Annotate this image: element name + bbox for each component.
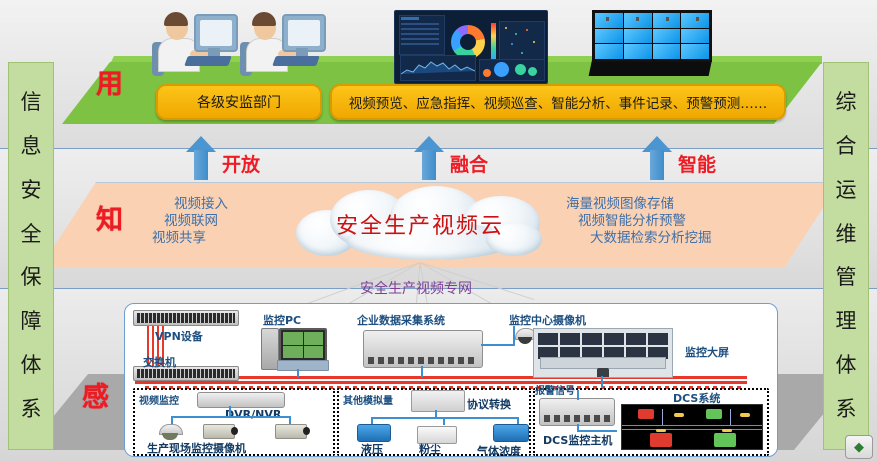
dashboard-area-chart: [400, 55, 476, 81]
up-arrow-icon: [186, 136, 216, 180]
banner-left-char-1: 息: [21, 136, 42, 157]
bubble: [528, 67, 537, 76]
scatter-dot: [526, 29, 528, 31]
group-title-alarm-signals: 报警信号: [535, 382, 575, 397]
banner-left-char-2: 安: [21, 180, 42, 201]
bubble: [483, 69, 491, 77]
banner-right-char-6: 体: [836, 355, 857, 376]
dcs-tag: [674, 413, 684, 417]
operator-1: [152, 6, 236, 82]
video-wall-cell: [595, 29, 623, 44]
banner-left-char-5: 障: [21, 311, 42, 332]
label-protocol-converter: 协议转换: [467, 396, 511, 412]
dcs-tag: [740, 413, 750, 417]
label-dust: 粉尘: [419, 441, 441, 457]
layer-key-perception: 感: [82, 375, 109, 414]
pc-monitor-grid: [283, 332, 323, 358]
group-title-video-surveillance: 视频监控: [139, 392, 179, 407]
video-wall-cell: [624, 29, 652, 44]
blue-link: [171, 416, 173, 424]
layer-key-application: 用: [96, 62, 123, 101]
dcs-tag: [656, 429, 666, 432]
vpn-device-icon: [133, 310, 239, 326]
cloud-capabilities-right: 海量视频图像存储 视频智能分析预警 大数据检索分析挖掘: [566, 196, 712, 247]
arrow-label-open: 开放: [222, 150, 260, 177]
cloud-right-item-2: 大数据检索分析挖掘: [590, 230, 712, 247]
banner-right-char-2: 运: [836, 180, 857, 201]
pc-monitor-icon: [279, 328, 327, 362]
bubble: [515, 64, 526, 75]
switch-ports: [137, 369, 235, 378]
banner-right-char-3: 维: [836, 224, 857, 245]
protocol-converter-icon: [411, 390, 465, 412]
video-wall-foot: [666, 17, 669, 21]
scatter-dot: [505, 27, 507, 29]
group-title-analog-signals: 其他模拟量: [343, 392, 393, 407]
video-wall-foot: [696, 17, 699, 21]
blue-link: [443, 417, 445, 425]
dcs-pipe: [730, 409, 731, 425]
red-bus-line: [135, 381, 747, 384]
arrow-shaft: [422, 150, 436, 180]
blue-link: [421, 366, 423, 377]
video-wall-cell: [681, 44, 709, 59]
banner-right-char-0: 综: [836, 92, 857, 113]
dcs-host-icon: [539, 398, 615, 426]
application-dept-box[interactable]: 各级安监部门: [156, 84, 322, 120]
blue-link: [289, 416, 291, 424]
dcs-node: [650, 433, 672, 447]
dcs-pipe: [622, 425, 762, 426]
blue-link: [513, 326, 515, 346]
video-wall-image: [592, 10, 720, 76]
cloud-shape: 安全生产视频云: [286, 186, 554, 260]
up-arrow-icon: [642, 136, 672, 180]
cloud-title: 安全生产视频云: [286, 208, 554, 240]
dashboard-heat-legend: [491, 23, 496, 61]
scatter-dot: [511, 43, 513, 45]
switch-ports: [137, 313, 235, 323]
banner-right-char-1: 合: [836, 136, 857, 157]
scatter-dot: [521, 52, 523, 54]
video-wall-cell: [653, 44, 681, 59]
dcs-node: [706, 409, 722, 419]
label-site-cameras: 生产现场监控摄像机: [147, 440, 246, 456]
analytics-dashboard-image: [394, 10, 548, 84]
blue-link: [577, 390, 579, 400]
banner-left-char-0: 信: [21, 92, 42, 113]
video-wall-cell: [624, 44, 652, 59]
label-monitoring-big-screen: 监控大屏: [685, 344, 729, 360]
cloud-left-item-2: 视频共享: [152, 230, 206, 247]
keyboard-icon: [184, 56, 232, 66]
dcs-node: [714, 433, 736, 447]
leaf-icon[interactable]: ◆: [845, 435, 873, 459]
private-network-label: 安全生产视频专网: [360, 278, 472, 298]
data-collection-server-icon: [363, 330, 483, 368]
banner-left-char-3: 全: [21, 224, 42, 245]
label-dcs-host: DCS监控主机: [543, 432, 612, 448]
dcs-node: [638, 409, 654, 419]
operator-2: [240, 6, 324, 82]
banner-right-char-5: 理: [836, 311, 857, 332]
dcs-tag: [722, 429, 732, 432]
dome-lens: [518, 337, 532, 344]
camera-lens: [231, 427, 238, 435]
cloud-left-item-0: 视频接入: [152, 196, 228, 213]
banner-left-char-6: 体: [21, 355, 42, 376]
label-switch: 交换机: [143, 354, 176, 370]
control-room-video-wall: [538, 333, 668, 359]
dashboard-table-left: [399, 15, 445, 55]
video-wall-cell: [653, 29, 681, 44]
blue-link: [371, 417, 519, 419]
dvr-nvr-icon: [197, 392, 285, 408]
dashboard-row: [401, 33, 439, 35]
label-hydraulic: 液压: [361, 441, 383, 457]
video-wall-cell: [681, 29, 709, 44]
video-wall-cell: [595, 44, 623, 59]
monitor-screen: [200, 20, 232, 46]
blue-link: [297, 369, 299, 377]
hair: [252, 12, 276, 26]
application-functions-box[interactable]: 视频预览、应急指挥、视频巡查、智能分析、事件记录、预警预测……: [330, 84, 786, 120]
monitor-screen: [288, 20, 320, 46]
hydraulic-sensor-icon: [357, 424, 391, 442]
architecture-diagram: 信 息 安 全 保 障 体 系 综 合 运 维 管 理 体 系 用 知 感: [0, 0, 877, 461]
blue-link: [171, 416, 291, 418]
arrow-label-fusion: 融合: [450, 150, 488, 177]
dashboard-donut-chart: [451, 25, 485, 59]
banner-integrated-operations: 综 合 运 维 管 理 体 系: [823, 62, 869, 450]
blue-link: [481, 344, 513, 346]
video-wall-foot: [636, 17, 639, 21]
banner-left-char-4: 保: [21, 267, 42, 288]
dcs-pipe: [622, 429, 762, 430]
blue-link: [435, 410, 437, 418]
bubble: [494, 62, 509, 77]
scatter-dot: [533, 41, 535, 43]
server-ports: [544, 415, 610, 422]
arrow-label-intelligent: 智能: [678, 150, 716, 177]
scatter-dot: [515, 33, 517, 35]
video-wall-base: [589, 60, 712, 76]
banner-right-char-4: 管: [836, 267, 857, 288]
label-gas-concentration: 气体浓度: [477, 443, 521, 457]
up-arrow-icon: [414, 136, 444, 180]
arrow-shaft: [194, 150, 208, 180]
monitor-stand: [296, 48, 308, 56]
dashboard-title-bar: [401, 17, 419, 20]
dashboard-row: [401, 28, 439, 30]
cloud-right-item-1: 视频智能分析预警: [578, 213, 712, 230]
dashboard-row: [401, 38, 439, 40]
label-control-center-camera: 监控中心摄像机: [509, 312, 586, 328]
hair: [164, 12, 188, 26]
control-room-image: [533, 328, 673, 378]
keyboard-icon: [272, 56, 320, 66]
perception-panel: VPN设备 交换机 监控PC 企业数据采集系统 监控中心摄像机: [124, 303, 778, 457]
dashboard-row: [401, 23, 439, 25]
gas-sensor-icon: [493, 424, 529, 442]
cloud-left-item-1: 视频联网: [152, 213, 218, 230]
label-monitoring-pc: 监控PC: [263, 312, 301, 328]
banner-left-char-7: 系: [21, 399, 42, 420]
cloud-capabilities-left: 视频接入 视频联网 视频共享: [152, 196, 228, 247]
dcs-scada-image: [621, 404, 763, 450]
label-dvr-nvr: DVR/NVR: [225, 408, 281, 421]
dashboard-row: [401, 43, 439, 45]
label-vpn-device: VPN设备: [155, 328, 203, 344]
video-wall-frame: [592, 10, 712, 62]
monitor-stand: [208, 48, 220, 56]
server-ports: [368, 357, 478, 364]
camera-lens: [303, 427, 310, 435]
banner-information-security: 信 息 安 全 保 障 体 系: [8, 62, 54, 450]
cloud-right-item-0: 海量视频图像存储: [566, 196, 712, 213]
label-enterprise-data-collection: 企业数据采集系统: [357, 312, 445, 328]
control-room-chair: [597, 368, 609, 377]
pc-keyboard-icon: [277, 360, 329, 371]
dcs-pipe: [662, 409, 663, 425]
operators-illustration: [152, 6, 328, 82]
dashboard-spacer: [445, 15, 447, 53]
layer-key-cognition: 知: [96, 198, 123, 237]
blue-link: [601, 376, 603, 388]
video-wall-foot: [606, 17, 609, 21]
arrow-shaft: [650, 150, 664, 180]
blue-link: [229, 406, 231, 416]
monitor-icon: [282, 14, 326, 52]
area-chart-svg: [401, 56, 475, 80]
banner-right-char-7: 系: [836, 399, 857, 420]
monitor-icon: [194, 14, 238, 52]
